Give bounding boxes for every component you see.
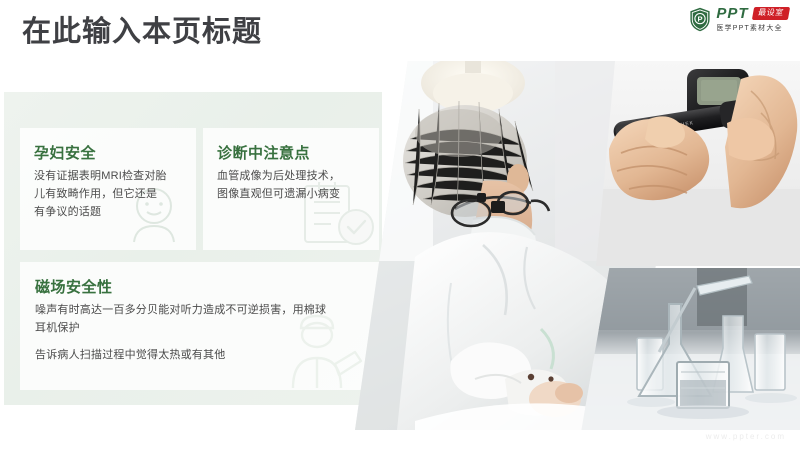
lab-glassware-photo [577,268,800,430]
card-body: 没有证据表明MRI检查对胎儿有致畸作用，但它还是有争议的话题 [34,168,168,221]
photo-collage: ACCU-CHEK [355,61,800,430]
logo-subtitle: 医学PPT素材大全 [716,23,788,33]
page-title: 在此输入本页标题 [22,14,262,52]
card-title: 诊断中注意点 [217,142,379,163]
footer-url: www.ppter.com [706,432,786,441]
logo-badge: 最设室 [751,7,789,20]
card-body: 噪声有时高达一百多分贝能对听力造成不可逆损害，用棉球耳机保护 [35,302,335,338]
info-card-diagnosis[interactable]: 诊断中注意点 血管成像为后处理技术，图像直观但可遗漏小病变 [203,128,379,250]
card-body: 血管成像为后处理技术，图像直观但可遗漏小病变 [217,168,351,204]
card-body-secondary: 告诉病人扫描过程中觉得太热或有其他 [35,347,335,365]
info-card-magnetic[interactable]: 磁场安全性 噪声有时高达一百多分贝能对听力造成不可逆损害，用棉球耳机保护 告诉病… [20,262,379,390]
brand-logo[interactable]: P PPT 最设室 医学PPT素材大全 [689,6,788,32]
card-title: 磁场安全性 [35,276,379,297]
logo-wordmark: PPT 最设室 医学PPT素材大全 [716,6,788,33]
shield-icon: P [689,7,711,32]
info-panel: 孕妇安全 没有证据表明MRI检查对胎儿有致畸作用，但它还是有争议的话题 诊断中注… [4,92,382,405]
svg-text:P: P [698,14,703,23]
logo-ppt-text: PPT [716,6,748,21]
info-card-pregnancy[interactable]: 孕妇安全 没有证据表明MRI检查对胎儿有致畸作用，但它还是有争议的话题 [20,128,196,250]
glucose-meter-photo: ACCU-CHEK [591,61,800,266]
card-title: 孕妇安全 [34,142,196,163]
